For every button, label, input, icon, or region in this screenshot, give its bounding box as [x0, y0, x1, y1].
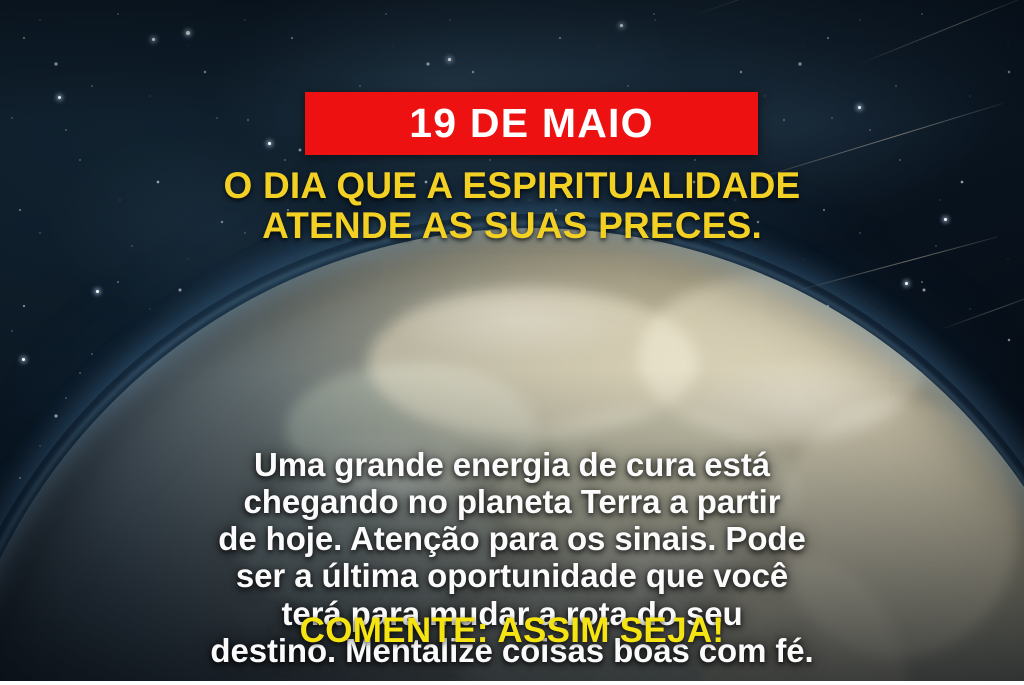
bottom-white-strip	[0, 681, 1024, 685]
body-line-1: Uma grande energia de cura está	[50, 446, 974, 483]
date-banner-label: 19 DE MAIO	[409, 103, 653, 144]
date-banner: 19 DE MAIO	[305, 92, 758, 155]
call-to-action-text: COMENTE: ASSIM SEJA!	[0, 613, 1024, 648]
body-line-2: chegando no planeta Terra a partir	[50, 483, 974, 520]
body-line-3: de hoje. Atenção para os sinais. Pode	[50, 520, 974, 557]
headline-line-1: O DIA QUE A ESPIRITUALIDADE	[0, 166, 1024, 206]
headline-line-2: ATENDE AS SUAS PRECES.	[0, 206, 1024, 246]
body-line-4: ser a última oportunidade que você	[50, 557, 974, 594]
headline: O DIA QUE A ESPIRITUALIDADE ATENDE AS SU…	[0, 166, 1024, 247]
poster-content: 19 DE MAIO O DIA QUE A ESPIRITUALIDADE A…	[0, 0, 1024, 685]
poster-canvas: 19 DE MAIO O DIA QUE A ESPIRITUALIDADE A…	[0, 0, 1024, 685]
